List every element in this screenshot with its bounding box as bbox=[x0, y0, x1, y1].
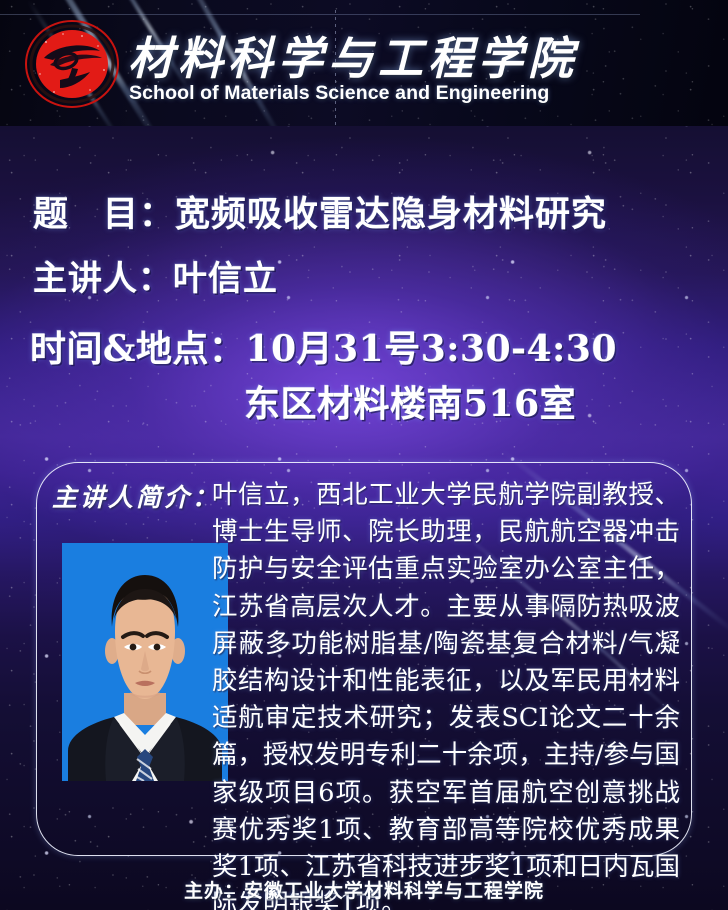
topic-line: 题目：宽频吸收雷达隐身材料研究 bbox=[33, 186, 607, 237]
time-place-label: 时间&地点： bbox=[30, 328, 246, 370]
banner-title-english: School of Materials Science and Engineer… bbox=[129, 82, 549, 105]
topic-label-part1: 题 bbox=[33, 194, 69, 235]
bio-text: 叶信立，西北工业大学民航学院副教授、博士生导师、院长助理，民航航空器冲击防护与安… bbox=[212, 477, 680, 910]
time-value: 10月31号3:30-4:30 bbox=[246, 328, 618, 370]
banner-rule bbox=[0, 14, 640, 15]
banner-title-chinese: 材料科学与工程学院 bbox=[128, 22, 578, 87]
organizer-footer: 主办：安徽工业大学材料科学与工程学院 bbox=[0, 876, 728, 903]
speaker-portrait bbox=[62, 543, 228, 781]
speaker-line: 主讲人：叶信立 bbox=[33, 251, 278, 300]
lecture-poster: 材料科学与工程学院 School of Materials Science an… bbox=[0, 0, 728, 910]
speaker-label: 主讲人： bbox=[33, 259, 173, 299]
topic-value: 宽频吸收雷达隐身材料研究 bbox=[175, 194, 607, 235]
place-line: 东区材料楼南516室 bbox=[244, 375, 576, 427]
bio-label: 主讲人简介： bbox=[52, 478, 220, 514]
school-emblem-icon bbox=[20, 18, 124, 110]
time-place-line: 时间&地点：10月31号3:30-4:30 bbox=[30, 320, 617, 372]
place-value: 东区材料楼南516室 bbox=[244, 383, 576, 425]
topic-label-part2: 目： bbox=[103, 194, 175, 235]
speaker-value: 叶信立 bbox=[173, 259, 278, 299]
header-banner: 材料科学与工程学院 School of Materials Science an… bbox=[0, 0, 728, 126]
